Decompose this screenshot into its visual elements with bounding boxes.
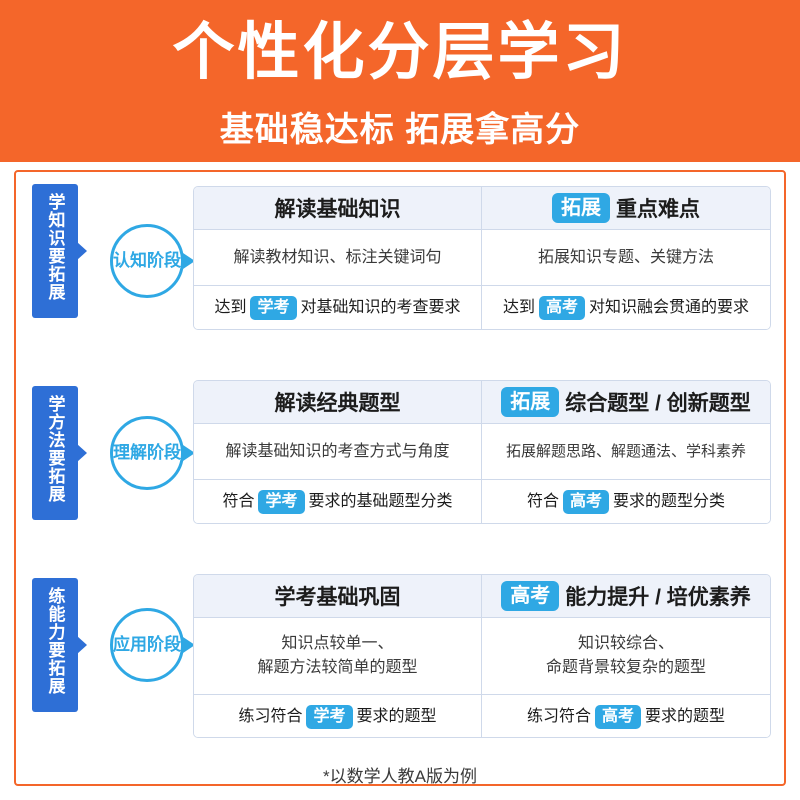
card-row-2-right-col: 拓展综合题型 / 创新题型 拓展解题思路、解题通法、学科素养 — [482, 381, 770, 479]
row-3-right-footer-col: 练习符合高考要求的题型 — [482, 695, 770, 738]
chip-gaokao: 高考 — [595, 705, 641, 729]
row-1-right-footer-post: 对知识融会贯通的要求 — [589, 296, 749, 320]
card-row-2-left-col: 解读经典题型 解读基础知识的考查方式与角度 — [194, 381, 482, 479]
chip-expand: 拓展 — [552, 193, 610, 223]
row-3-right-footer-post: 要求的题型 — [645, 705, 725, 729]
row-3-left-footer: 练习符合学考要求的题型 — [194, 695, 481, 738]
row-1-left-footer-pre: 达到 — [214, 296, 246, 320]
row-1-right-heading: 拓展重点难点 — [482, 187, 770, 229]
chip-gaokao: 高考 — [539, 296, 585, 320]
card-row-1-left-col: 解读基础知识 解读教材知识、标注关键词句 — [194, 187, 482, 285]
row-2-right-footer-col: 符合高考要求的题型分类 — [482, 480, 770, 524]
row-3-left-heading: 学考基础巩固 — [194, 575, 481, 617]
stage-badge-application[interactable]: 应用阶段 — [110, 608, 184, 682]
row-1-left-footer-post: 对基础知识的考查要求 — [301, 296, 461, 320]
row-1-left-heading-text: 解读基础知识 — [275, 193, 401, 223]
card-row-3-left-col: 学考基础巩固 知识点较单一、 解题方法较简单的题型 — [194, 575, 482, 694]
sidebar-item-knowledge[interactable]: 学知识要拓展 — [32, 184, 78, 318]
row-1-left-footer-col: 达到学考对基础知识的考查要求 — [194, 286, 482, 330]
row-2-right-heading-text: 综合题型 / 创新题型 — [565, 387, 751, 417]
chip-xuekao: 学考 — [258, 490, 304, 514]
page-title: 个性化分层学习 — [0, 14, 800, 92]
row-1-left-heading: 解读基础知识 — [194, 187, 481, 229]
page-subtitle: 基础稳达标 拓展拿高分 — [0, 108, 800, 152]
stage-badge-cognition-label: 认知阶段 — [113, 250, 181, 272]
row-3-left-footer-pre: 练习符合 — [238, 705, 302, 729]
row-2-right-body: 拓展解题思路、解题通法、学科素养 — [482, 424, 770, 479]
row-3-right-heading: 高考能力提升 / 培优素养 — [482, 575, 770, 617]
sidebar-item-knowledge-label: 学知识要拓展 — [45, 193, 66, 301]
stage-badge-application-label: 应用阶段 — [113, 634, 181, 656]
stage-badge-understanding[interactable]: 理解阶段 — [110, 416, 184, 490]
card-row-3-top: 学考基础巩固 知识点较单一、 解题方法较简单的题型 高考能力提升 / 培优素养 … — [194, 575, 770, 694]
row-2-right-footer: 符合高考要求的题型分类 — [482, 480, 770, 524]
row-3-right-footer-pre: 练习符合 — [527, 705, 591, 729]
row-3-right-footer: 练习符合高考要求的题型 — [482, 695, 770, 738]
sidebar-item-method[interactable]: 学方法要拓展 — [32, 386, 78, 520]
row-2-right-heading: 拓展综合题型 / 创新题型 — [482, 381, 770, 423]
row-1-left-body: 解读教材知识、标注关键词句 — [194, 230, 481, 285]
chip-gaokao: 高考 — [501, 581, 559, 611]
row-1-right-footer-col: 达到高考对知识融会贯通的要求 — [482, 286, 770, 330]
sidebar-item-ability-label: 练能力要拓展 — [45, 587, 66, 695]
row-3-left-body: 知识点较单一、 解题方法较简单的题型 — [194, 618, 481, 694]
card-row-2-bottom: 符合学考要求的基础题型分类 符合高考要求的题型分类 — [194, 480, 770, 524]
row-2-left-footer-pre: 符合 — [222, 490, 254, 514]
row-3-left-heading-text: 学考基础巩固 — [275, 581, 401, 611]
row-3-left-footer-col: 练习符合学考要求的题型 — [194, 695, 482, 738]
stage-badge-cognition[interactable]: 认知阶段 — [110, 224, 184, 298]
row-3-left-footer-post: 要求的题型 — [357, 705, 437, 729]
row-2-right-footer-post: 要求的题型分类 — [613, 490, 725, 514]
card-row-3-right-col: 高考能力提升 / 培优素养 知识较综合、 命题背景较复杂的题型 — [482, 575, 770, 694]
row-2-right-footer-pre: 符合 — [527, 490, 559, 514]
card-row-2: 解读经典题型 解读基础知识的考查方式与角度 拓展综合题型 / 创新题型 拓展解题… — [193, 380, 771, 524]
card-row-2-top: 解读经典题型 解读基础知识的考查方式与角度 拓展综合题型 / 创新题型 拓展解题… — [194, 381, 770, 479]
row-2-left-footer-post: 要求的基础题型分类 — [309, 490, 453, 514]
card-row-1-right-col: 拓展重点难点 拓展知识专题、关键方法 — [482, 187, 770, 285]
row-2-left-heading: 解读经典题型 — [194, 381, 481, 423]
row-3-right-body: 知识较综合、 命题背景较复杂的题型 — [482, 618, 770, 694]
card-row-3-bottom: 练习符合学考要求的题型 练习符合高考要求的题型 — [194, 695, 770, 738]
row-1-right-footer: 达到高考对知识融会贯通的要求 — [482, 286, 770, 330]
sidebar-item-method-label: 学方法要拓展 — [45, 395, 66, 503]
chip-expand: 拓展 — [501, 387, 559, 417]
chip-xuekao: 学考 — [306, 705, 352, 729]
footnote: *以数学人教A版为例 — [0, 762, 800, 787]
card-row-1: 解读基础知识 解读教材知识、标注关键词句 拓展重点难点 拓展知识专题、关键方法 … — [193, 186, 771, 330]
row-2-left-body: 解读基础知识的考查方式与角度 — [194, 424, 481, 479]
poster-root: 个性化分层学习 基础稳达标 拓展拿高分 学知识要拓展 认知阶段 解读基础知识 解… — [0, 0, 800, 800]
header-banner: 个性化分层学习 基础稳达标 拓展拿高分 — [0, 0, 800, 162]
chip-gaokao: 高考 — [563, 490, 609, 514]
card-row-1-bottom: 达到学考对基础知识的考查要求 达到高考对知识融会贯通的要求 — [194, 286, 770, 330]
card-row-3: 学考基础巩固 知识点较单一、 解题方法较简单的题型 高考能力提升 / 培优素养 … — [193, 574, 771, 738]
row-1-right-body: 拓展知识专题、关键方法 — [482, 230, 770, 285]
chip-xuekao: 学考 — [250, 296, 296, 320]
row-2-left-heading-text: 解读经典题型 — [275, 387, 401, 417]
row-2-left-footer-col: 符合学考要求的基础题型分类 — [194, 480, 482, 524]
row-2-left-footer: 符合学考要求的基础题型分类 — [194, 480, 481, 524]
row-1-right-footer-pre: 达到 — [503, 296, 535, 320]
row-1-right-heading-text: 重点难点 — [616, 193, 700, 223]
card-row-1-top: 解读基础知识 解读教材知识、标注关键词句 拓展重点难点 拓展知识专题、关键方法 — [194, 187, 770, 285]
sidebar-item-ability[interactable]: 练能力要拓展 — [32, 578, 78, 712]
row-3-right-heading-text: 能力提升 / 培优素养 — [565, 581, 751, 611]
stage-badge-understanding-label: 理解阶段 — [113, 442, 181, 464]
row-1-left-footer: 达到学考对基础知识的考查要求 — [194, 286, 481, 330]
